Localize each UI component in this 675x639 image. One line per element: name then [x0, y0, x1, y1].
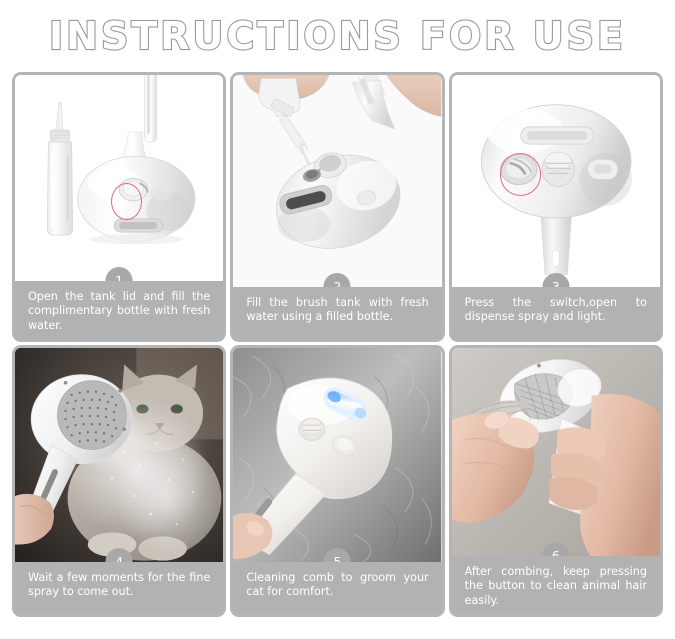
step-caption-4: Wait a few moments for the fine spray to…: [15, 562, 223, 614]
step-caption-2: Fill the brush tank with fresh water usi…: [233, 287, 441, 339]
step-image-1: 1: [15, 75, 223, 281]
step-panel-2: 2 Fill the brush tank with fresh water u…: [230, 72, 444, 342]
highlight-ring-step-1: [111, 183, 142, 220]
pouring-into-tank-illustration: [233, 75, 441, 287]
step-image-3: 3: [452, 75, 660, 287]
instruction-steps-grid: 1 Open the tank lid and fill the complim…: [0, 72, 675, 617]
step-image-6: 6: [452, 348, 660, 556]
step-panel-1: 1 Open the tank lid and fill the complim…: [12, 72, 226, 342]
step-image-4: 4: [15, 348, 223, 562]
step-panel-5: 5 Cleaning comb to groom your cat for co…: [230, 345, 444, 617]
step-caption-6: After combing, keep pressing the button …: [452, 556, 660, 614]
cat-with-mist-illustration: [15, 348, 223, 562]
step-panel-6: 6 After combing, keep pressing the butto…: [449, 345, 663, 617]
step-panel-3: 3 Press the switch,open to dispense spra…: [449, 72, 663, 342]
bottle-and-base-illustration: [15, 75, 223, 281]
page-title: INSTRUCTIONS FOR USE: [49, 14, 626, 58]
highlight-ring-step-3: [500, 153, 542, 195]
step-caption-5: Cleaning comb to groom your cat for comf…: [233, 562, 441, 614]
step-caption-3: Press the switch,open to dispense spray …: [452, 287, 660, 339]
step-caption-1: Open the tank lid and fill the complimen…: [15, 281, 223, 339]
step-image-5: 5: [233, 348, 441, 562]
brush-on-fur-illustration: [233, 348, 441, 562]
step-panel-4: 4 Wait a few moments for the fine spray …: [12, 345, 226, 617]
switch-closeup-illustration: [452, 75, 660, 287]
hands-cleaning-hair-illustration: [452, 348, 660, 556]
step-image-2: 2: [233, 75, 441, 287]
page-header: INSTRUCTIONS FOR USE: [0, 0, 675, 72]
